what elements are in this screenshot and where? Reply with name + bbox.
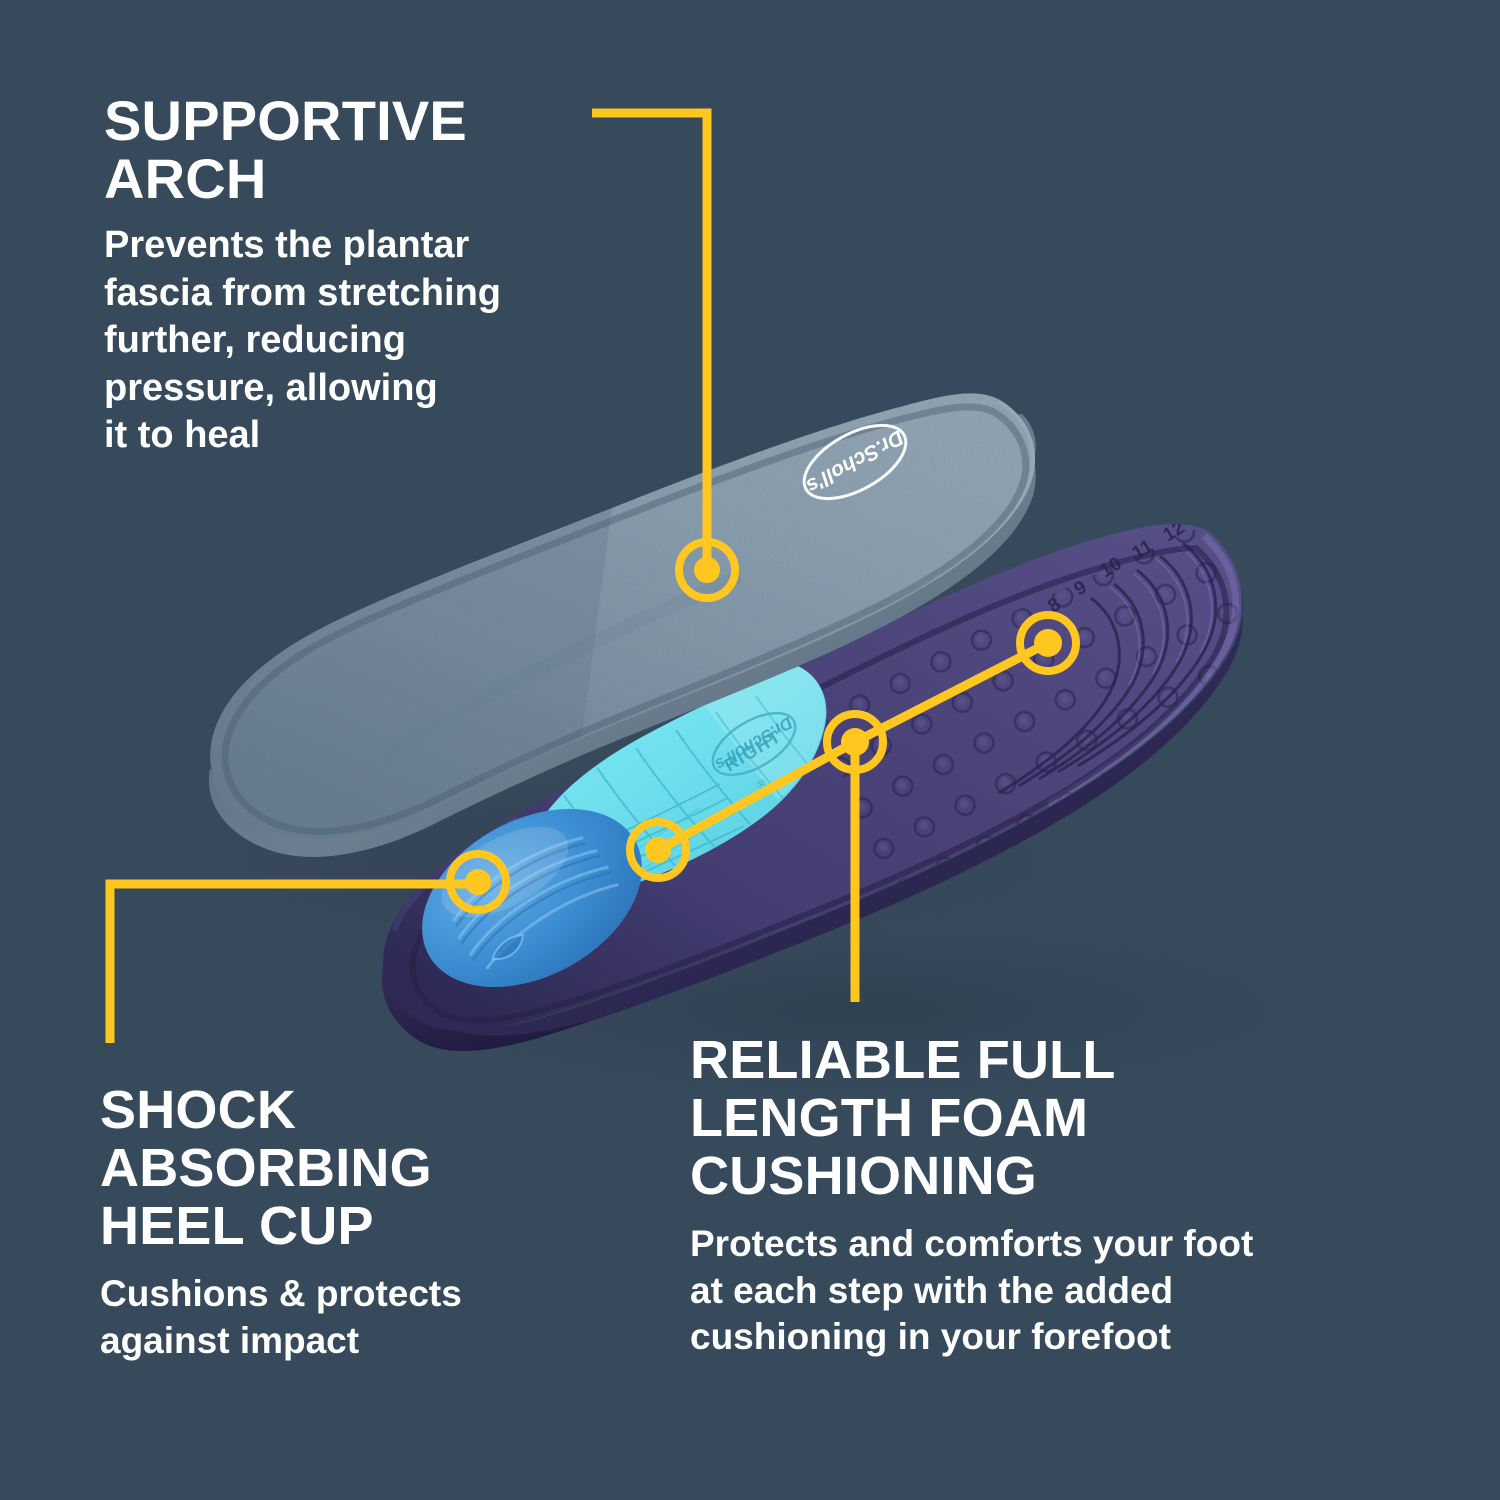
heading-line: HEEL CUP [100, 1198, 600, 1256]
body-line: further, reducing [104, 317, 624, 365]
heading-line: LENGTH FOAM [690, 1090, 1420, 1148]
feature-body-full-length-foam-cushioning: Protects and comforts your foot at each … [690, 1221, 1420, 1360]
heading-line: SHOCK [100, 1082, 600, 1140]
callout-markers [450, 542, 1076, 910]
feature-body-supportive-arch: Prevents the plantar fascia from stretch… [104, 222, 624, 460]
body-line: cushioning in your forefoot [690, 1314, 1420, 1360]
heading-line: SUPPORTIVE [104, 92, 624, 150]
body-line: pressure, allowing [104, 365, 624, 413]
heading-line: ARCH [104, 150, 624, 208]
feature-heading-full-length-foam-cushioning: RELIABLE FULL LENGTH FOAM CUSHIONING [690, 1032, 1420, 1205]
callout-marker-forefoot [1020, 615, 1076, 671]
heading-line: RELIABLE FULL [690, 1032, 1420, 1090]
feature-heading-shock-absorbing-heel-cup: SHOCK ABSORBING HEEL CUP [100, 1082, 600, 1255]
heading-line: ABSORBING [100, 1140, 600, 1198]
feature-heading-supportive-arch: SUPPORTIVE ARCH [104, 92, 624, 208]
feature-block-full-length-foam-cushioning: RELIABLE FULL LENGTH FOAM CUSHIONING Pro… [690, 1032, 1420, 1360]
callout-line-heel [110, 884, 478, 1043]
body-line: Cushions & protects [100, 1271, 600, 1317]
feature-block-supportive-arch: SUPPORTIVE ARCH Prevents the plantar fas… [104, 92, 624, 460]
infographic-canvas: 8 9 10 11 12 [0, 0, 1500, 1500]
body-line: fascia from stretching [104, 270, 624, 318]
feature-body-shock-absorbing-heel-cup: Cushions & protects against impact [100, 1271, 600, 1364]
heading-line: CUSHIONING [690, 1148, 1420, 1206]
body-line: Protects and comforts your foot [690, 1221, 1420, 1267]
feature-block-shock-absorbing-heel-cup: SHOCK ABSORBING HEEL CUP Cushions & prot… [100, 1082, 600, 1364]
body-line: against impact [100, 1318, 600, 1364]
body-line: it to heal [104, 412, 624, 460]
callout-marker-arch-pad [630, 822, 686, 878]
body-line: Prevents the plantar [104, 222, 624, 270]
body-line: at each step with the added [690, 1268, 1420, 1314]
